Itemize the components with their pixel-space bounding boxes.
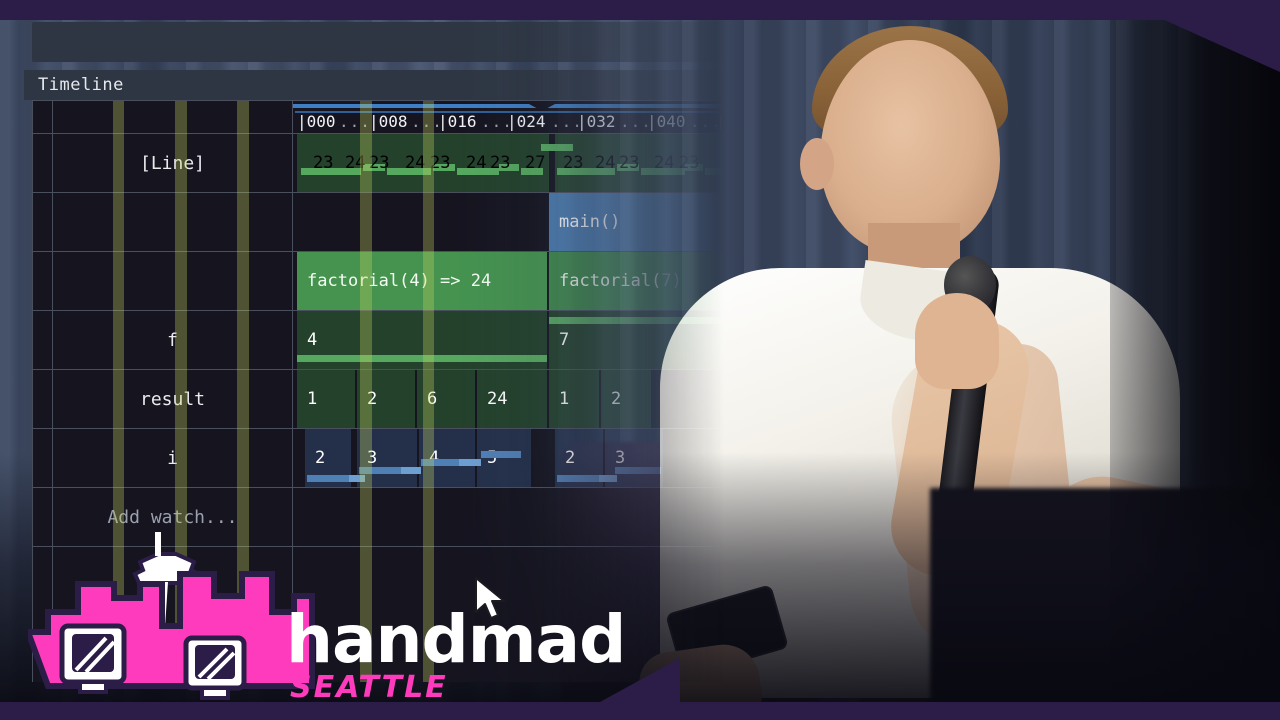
ruler-tick: |032: [577, 112, 616, 131]
i-block[interactable]: 4: [419, 429, 475, 487]
call-label-text: factorial(: [559, 271, 661, 291]
line-value-bar: [705, 168, 724, 175]
call-block-factorial-4[interactable]: factorial(4) => 24: [297, 252, 547, 310]
timeline-header: Timeline: [24, 70, 724, 100]
i-block[interactable]: 5: [477, 429, 531, 487]
top-empty-panel: [32, 22, 724, 62]
result-block[interactable]: 6: [417, 370, 475, 428]
row-label-i[interactable]: i: [53, 429, 293, 487]
ruler-tick: |008: [369, 112, 408, 131]
ruler-dots: ...: [339, 112, 371, 131]
logo-subtitle: SEATTLE: [290, 670, 448, 702]
table-row: factorial(4) => 24 factorial(7): [33, 252, 724, 311]
result-track[interactable]: 1 2 6 24 1 2: [293, 370, 724, 428]
row-label: [53, 193, 293, 251]
i-value-bar: [359, 467, 403, 474]
speaker-ear: [800, 138, 834, 190]
row-gutter: [33, 252, 53, 310]
line-value dim: 23: [679, 134, 699, 192]
line-value: 23: [313, 134, 333, 192]
mouse-pointer-icon: [474, 576, 508, 624]
i-value-bar: [599, 475, 617, 482]
screen: Timeline |000: [0, 0, 1280, 720]
ruler: |000 ... |008 ... |016 ... |024 ... |032…: [293, 101, 724, 133]
ruler-tick: |0: [716, 112, 724, 131]
f-value-bar: [549, 317, 724, 324]
row-gutter: [33, 429, 53, 487]
table-row: f 4 7: [33, 311, 724, 370]
row-gutter: [33, 101, 53, 133]
table-row: |000 ... |008 ... |016 ... |024 ... |032…: [33, 101, 724, 134]
line-value: 24: [405, 134, 425, 192]
call-label-arg: 7): [661, 271, 681, 291]
ruler-tick: |016: [438, 112, 477, 131]
main-call-track[interactable]: main(): [293, 193, 724, 251]
i-value-bar: [481, 451, 521, 458]
row-label: [53, 252, 293, 310]
ruler-track[interactable]: |000 ... |008 ... |016 ... |024 ... |032…: [293, 101, 724, 133]
line-value: 27: [525, 134, 545, 192]
table-row: i 2 3 4 5 2 3: [33, 429, 724, 488]
row-label-result[interactable]: result: [53, 370, 293, 428]
result-block[interactable]: 1: [297, 370, 355, 428]
factorial-call-track[interactable]: factorial(4) => 24 factorial(7): [293, 252, 724, 310]
ruler-tick: |000: [297, 112, 336, 131]
line-value: 23: [490, 134, 510, 192]
result-block[interactable]: 1: [549, 370, 599, 428]
row-label-f[interactable]: f: [53, 311, 293, 369]
table-row: result 1 2 6 24 1 2: [33, 370, 724, 429]
line-value: 23: [369, 134, 389, 192]
call-block-main[interactable]: main(): [549, 193, 724, 251]
i-block[interactable]: 3: [357, 429, 417, 487]
line-value: 24: [345, 134, 365, 192]
line-value: 24: [654, 134, 674, 192]
handmade-seattle-logo: handmade SEATTLE: [28, 532, 628, 702]
monitor-icon-left: [62, 626, 124, 692]
result-block[interactable]: 2: [601, 370, 651, 428]
row-gutter: [33, 134, 53, 192]
row-gutter: [33, 311, 53, 369]
i-track[interactable]: 2 3 4 5 2 3: [293, 429, 724, 487]
frame-bottom-band: [0, 702, 1280, 720]
call-block-factorial-7[interactable]: factorial(7): [549, 252, 724, 310]
line-value: 23: [563, 134, 583, 192]
i-value-bar: [557, 475, 601, 482]
i-value-bar: [459, 459, 481, 466]
i-value-bar: [401, 467, 421, 474]
logo-wordmark: handmade: [286, 601, 628, 678]
i-value-bar: [349, 475, 365, 482]
speaker-hand: [915, 293, 999, 389]
timeline-title: Timeline: [24, 75, 124, 95]
monitor-icon-right: [186, 638, 244, 698]
f-track[interactable]: 4 7: [293, 311, 724, 369]
table-row: main(): [33, 193, 724, 252]
row-label-line[interactable]: [Line]: [53, 134, 293, 192]
row-gutter: [33, 370, 53, 428]
row-gutter: [33, 193, 53, 251]
line-value: 24: [595, 134, 615, 192]
line-value: 23: [619, 134, 639, 192]
result-block[interactable]: 24: [477, 370, 547, 428]
line-track[interactable]: 23 24 23 24 23 24 23 27 23 24 23 24 23: [293, 134, 724, 192]
result-block[interactable]: 2: [357, 370, 415, 428]
frame-top-band: [0, 0, 1280, 20]
line-value: 23: [430, 134, 450, 192]
i-value-bar: [421, 459, 461, 466]
ruler-tick: |040: [647, 112, 686, 131]
table-row: [Line] 23: [33, 134, 724, 193]
ruler-tick: |024: [507, 112, 546, 131]
f-value-bar: [297, 355, 547, 362]
i-value-bar: [615, 467, 661, 474]
line-value: 24: [466, 134, 486, 192]
i-value-bar: [307, 475, 353, 482]
row-label: [53, 101, 293, 133]
